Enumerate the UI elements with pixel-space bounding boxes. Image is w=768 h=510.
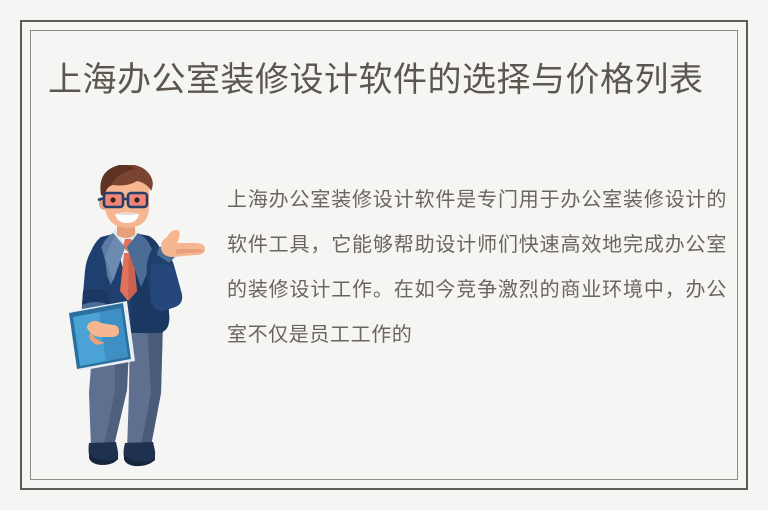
left-eye — [110, 197, 115, 202]
card-content: 上海办公室装修设计软件的选择与价格列表 — [0, 0, 768, 510]
article-body-text: 上海办公室装修设计软件是专门用于办公室装修设计的软件工具，它能够帮助设计师们快速… — [227, 178, 727, 358]
illustration-businessman — [55, 165, 215, 475]
article-card-page: 上海办公室装修设计软件的选择与价格列表 — [0, 0, 768, 510]
glasses-icon — [98, 193, 147, 207]
raised-arm-forearm — [151, 264, 182, 311]
page-title: 上海办公室装修设计软件的选择与价格列表 — [48, 56, 738, 104]
right-eye — [134, 197, 139, 202]
businessman-figure-icon — [55, 165, 215, 475]
